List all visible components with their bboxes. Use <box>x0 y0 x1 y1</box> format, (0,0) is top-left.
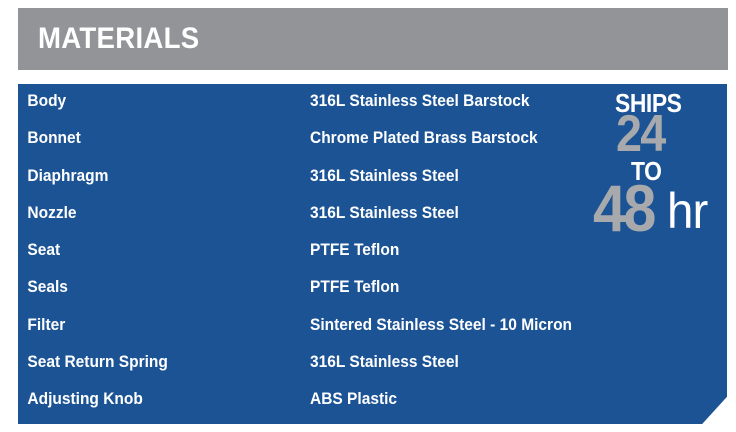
table-row: Seat Return Spring 316L Stainless Steel <box>18 353 727 390</box>
materials-table: Body 316L Stainless Steel Barstock Bonne… <box>18 84 727 424</box>
table-row: Adjusting Knob ABS Plastic <box>18 390 727 424</box>
table-row: Bonnet Chrome Plated Brass Barstock <box>18 129 727 166</box>
materials-spec-sheet: MATERIALS Body 316L Stainless Steel Bars… <box>0 0 736 432</box>
material-component-label: Seat <box>18 241 292 260</box>
material-component-label: Bonnet <box>18 129 292 148</box>
page-title: MATERIALS <box>38 24 199 54</box>
material-value-label: PTFE Teflon <box>310 278 702 297</box>
table-row: Body 316L Stainless Steel Barstock <box>18 92 727 129</box>
table-row: Nozzle 316L Stainless Steel <box>18 204 727 241</box>
material-component-label: Nozzle <box>18 204 292 223</box>
material-component-label: Body <box>18 92 292 111</box>
material-value-label: Sintered Stainless Steel - 10 Micron <box>310 316 702 335</box>
material-value-label: Chrome Plated Brass Barstock <box>310 129 702 148</box>
table-row: Seat PTFE Teflon <box>18 241 727 278</box>
material-component-label: Filter <box>18 316 292 335</box>
materials-panel: Body 316L Stainless Steel Barstock Bonne… <box>18 84 727 424</box>
material-value-label: PTFE Teflon <box>310 241 702 260</box>
material-value-label: ABS Plastic <box>310 390 702 409</box>
section-header-bar: MATERIALS <box>18 8 728 70</box>
material-component-label: Adjusting Knob <box>18 390 292 409</box>
table-row: Seals PTFE Teflon <box>18 278 727 315</box>
material-component-label: Seat Return Spring <box>18 353 292 372</box>
material-value-label: 316L Stainless Steel <box>310 167 702 186</box>
table-row: Diaphragm 316L Stainless Steel <box>18 167 727 204</box>
material-component-label: Seals <box>18 278 292 297</box>
material-component-label: Diaphragm <box>18 167 292 186</box>
material-value-label: 316L Stainless Steel Barstock <box>310 92 702 111</box>
material-value-label: 316L Stainless Steel <box>310 204 702 223</box>
table-row: Filter Sintered Stainless Steel - 10 Mic… <box>18 316 727 353</box>
material-value-label: 316L Stainless Steel <box>310 353 702 372</box>
